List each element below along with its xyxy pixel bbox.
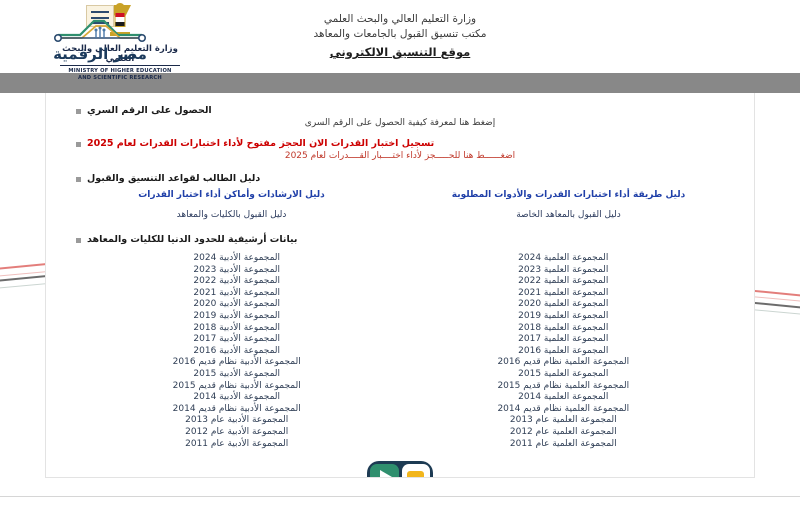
archive-year-link[interactable]: المجموعة الأدبية عام 2012 — [86, 427, 387, 439]
archive-year-link[interactable]: المجموعة العلمية 2019 — [413, 311, 714, 323]
bullet-square-icon — [76, 177, 81, 182]
archive-year-link[interactable]: المجموعة العلمية عام 2012 — [413, 427, 714, 439]
section-archive-minimum-scores: بيانات أرشيفية للحدود الدنيا للكليات وال… — [76, 234, 724, 450]
bullet-square-icon — [76, 142, 81, 147]
section-subtitle-link[interactable]: اضغــــــط هنا للحـــــجز لأداء اختــــب… — [76, 151, 724, 161]
section-subtitle-link[interactable]: إضغط هنا لمعرفة كيفية الحصول على الرقم ا… — [76, 118, 724, 128]
digital-egypt-label: مصر الرقمية — [40, 47, 160, 62]
literary-year-list: المجموعة الأدبية 2024المجموعة الأدبية 20… — [86, 253, 387, 450]
scientific-year-list: المجموعة العلمية 2024المجموعة العلمية 20… — [413, 253, 714, 450]
bullet-square-icon — [76, 109, 81, 114]
archive-year-link[interactable]: المجموعة العلمية 2022 — [413, 276, 714, 288]
section-title[interactable]: الحصول على الرقم السري — [87, 105, 212, 116]
archive-year-link[interactable]: المجموعة الأدبية 2023 — [86, 265, 387, 277]
section-get-password: الحصول على الرقم السري إضغط هنا لمعرفة ك… — [76, 105, 724, 128]
page-title: موقع التنسيق الالكتروني — [314, 44, 487, 61]
archive-year-link[interactable]: المجموعة الأدبية عام 2011 — [86, 439, 387, 451]
archive-year-link[interactable]: المجموعة الأدبية 2016 — [86, 346, 387, 358]
link-colleges-admission-guide[interactable]: دليل القبول بالكليات والمعاهد — [76, 210, 387, 220]
header-line-ministry: وزارة التعليم العالي والبحث العلمي — [314, 12, 487, 27]
header-title-block: وزارة التعليم العالي والبحث العلمي مكتب … — [314, 12, 487, 61]
archive-year-link[interactable]: المجموعة الأدبية عام 2013 — [86, 415, 387, 427]
play-icon — [370, 464, 399, 478]
ministry-logo-english-line2: AND SCIENTIFIC RESEARCH — [60, 75, 180, 82]
hi-col-hub-logo-icon — [367, 461, 433, 478]
section-title[interactable]: تسجيل اختبار القدرات الان الحجز مفتوح لأ… — [87, 138, 434, 149]
archive-year-link[interactable]: المجموعة العلمية 2024 — [413, 253, 714, 265]
archive-year-link[interactable]: المجموعة الأدبية 2018 — [86, 323, 387, 335]
archive-year-columns: المجموعة العلمية 2024المجموعة العلمية 20… — [76, 253, 724, 450]
archive-year-link[interactable]: المجموعة الأدبية 2019 — [86, 311, 387, 323]
archive-year-link[interactable]: المجموعة الأدبية 2015 — [86, 369, 387, 381]
page-header: وزارة التعليم العالي والبحث العلمي MINIS… — [0, 0, 800, 73]
archive-year-link[interactable]: المجموعة العلمية 2016 — [413, 346, 714, 358]
archive-year-link[interactable]: المجموعة العلمية 2015 — [413, 369, 714, 381]
archive-year-link[interactable]: المجموعة الأدبية 2017 — [86, 334, 387, 346]
archive-year-link[interactable]: المجموعة العلمية نظام قديم 2014 — [413, 404, 714, 416]
archive-year-link[interactable]: المجموعة الأدبية 2021 — [86, 288, 387, 300]
archive-year-link[interactable]: المجموعة الأدبية نظام قديم 2016 — [86, 357, 387, 369]
archive-year-link[interactable]: المجموعة العلمية نظام قديم 2016 — [413, 357, 714, 369]
section-aptitude-test-registration: تسجيل اختبار القدرات الان الحجز مفتوح لأ… — [76, 138, 724, 161]
watermark-overlay: Hi-Col Hub مركز هاي كول لكل ما هو جديد و… — [46, 461, 754, 478]
archive-year-link[interactable]: المجموعة العلمية 2014 — [413, 392, 714, 404]
ministry-logo-english: MINISTRY OF HIGHER EDUCATION AND SCIENTI… — [60, 65, 180, 82]
digital-egypt-logo: مصر الرقمية — [40, 5, 160, 62]
archive-year-link[interactable]: المجموعة الأدبية 2024 — [86, 253, 387, 265]
archive-year-link[interactable]: المجموعة العلمية عام 2011 — [413, 439, 714, 451]
archive-column-scientific: المجموعة العلمية 2024المجموعة العلمية 20… — [413, 253, 714, 450]
link-private-institutes-admission-guide[interactable]: دليل القبول بالمعاهد الخاصة — [413, 210, 724, 220]
speech-bubble-icon — [402, 464, 431, 478]
digital-egypt-mark-icon — [52, 5, 148, 49]
ministry-logo-english-line1: MINISTRY OF HIGHER EDUCATION — [60, 68, 180, 75]
content-card: الحصول على الرقم السري إضغط هنا لمعرفة ك… — [45, 93, 755, 478]
guide-links-left-cell: دليل طريقة أداء اختبارات القدرات والأدوا… — [413, 190, 724, 220]
archive-year-link[interactable]: المجموعة الأدبية نظام قديم 2014 — [86, 404, 387, 416]
link-aptitude-method-guide[interactable]: دليل طريقة أداء اختبارات القدرات والأدوا… — [413, 190, 724, 200]
section-title[interactable]: دليل الطالب لقواعد التنسيق والقبول — [87, 173, 260, 184]
archive-year-link[interactable]: المجموعة العلمية 2021 — [413, 288, 714, 300]
archive-year-link[interactable]: المجموعة العلمية 2018 — [413, 323, 714, 335]
link-instructions-and-venues-guide[interactable]: دليل الارشادات وأماكن أداء اختبار القدرا… — [76, 190, 387, 200]
archive-year-link[interactable]: المجموعة العلمية عام 2013 — [413, 415, 714, 427]
section-student-guide: دليل الطالب لقواعد التنسيق والقبول دليل … — [76, 173, 724, 220]
guide-links-right-cell: دليل الارشادات وأماكن أداء اختبار القدرا… — [76, 190, 387, 220]
archive-year-link[interactable]: المجموعة العلمية 2017 — [413, 334, 714, 346]
archive-year-link[interactable]: المجموعة الأدبية 2022 — [86, 276, 387, 288]
archive-column-literary: المجموعة الأدبية 2024المجموعة الأدبية 20… — [86, 253, 387, 450]
footer-divider — [0, 496, 800, 497]
archive-year-link[interactable]: المجموعة العلمية 2020 — [413, 299, 714, 311]
section-title: بيانات أرشيفية للحدود الدنيا للكليات وال… — [87, 234, 297, 245]
archive-year-link[interactable]: المجموعة العلمية 2023 — [413, 265, 714, 277]
archive-year-link[interactable]: المجموعة العلمية نظام قديم 2015 — [413, 381, 714, 393]
archive-year-link[interactable]: المجموعة الأدبية نظام قديم 2015 — [86, 381, 387, 393]
archive-year-link[interactable]: المجموعة الأدبية 2014 — [86, 392, 387, 404]
header-line-office: مكتب تنسيق القبول بالجامعات والمعاهد — [314, 27, 487, 42]
archive-year-link[interactable]: المجموعة الأدبية 2020 — [86, 299, 387, 311]
bullet-square-icon — [76, 238, 81, 243]
